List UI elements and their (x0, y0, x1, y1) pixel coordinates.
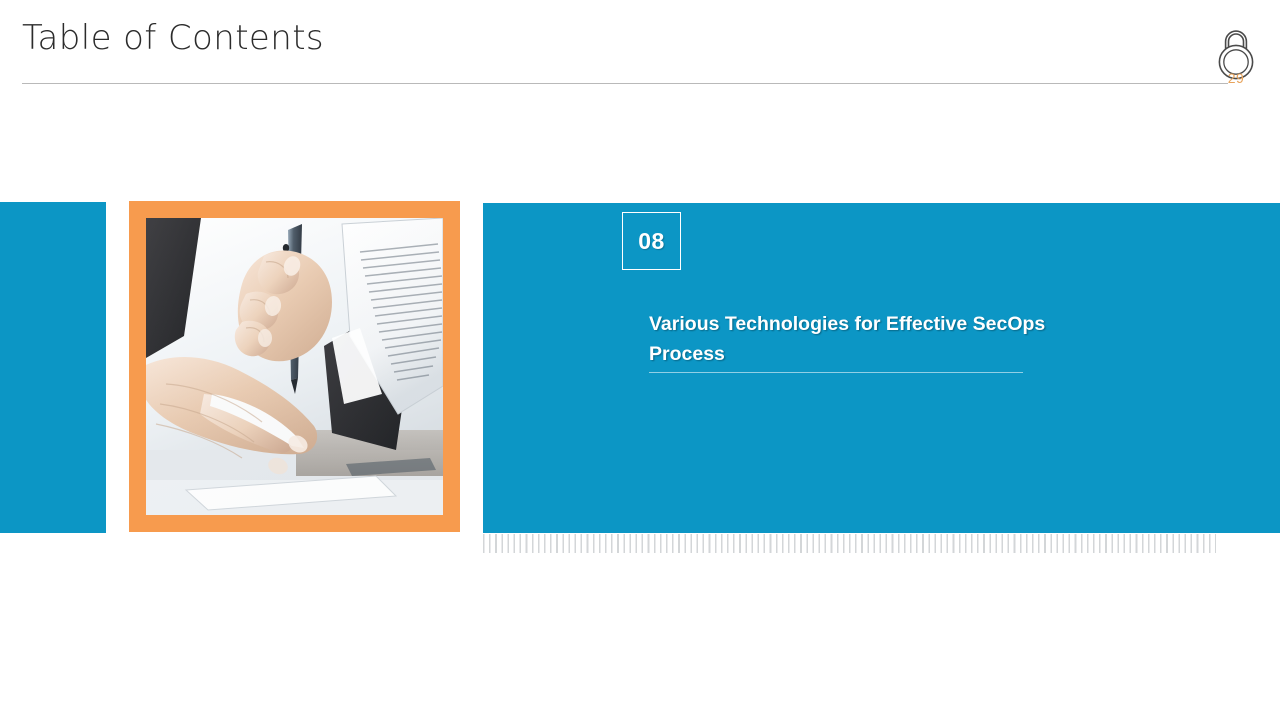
toc-item-title: Various Technologies for Effective SecOp… (649, 309, 1069, 369)
toc-title-underline (649, 372, 1023, 373)
left-accent-block (0, 202, 106, 533)
page-title: Table of Contents (22, 18, 324, 58)
padlock-number: 29 (1212, 70, 1260, 86)
decorative-comb-strip (483, 534, 1216, 553)
toc-index-box: 08 (622, 212, 681, 270)
photo-card (129, 201, 460, 532)
photo-image (146, 218, 443, 515)
page-header: Table of Contents 29 (0, 0, 1280, 95)
toc-entry-panel: 08 Various Technologies for Effective Se… (483, 203, 1280, 533)
header-divider (22, 83, 1228, 84)
padlock-badge: 29 (1212, 24, 1260, 86)
document-review-photo (146, 218, 443, 515)
toc-index-number: 08 (623, 213, 680, 269)
